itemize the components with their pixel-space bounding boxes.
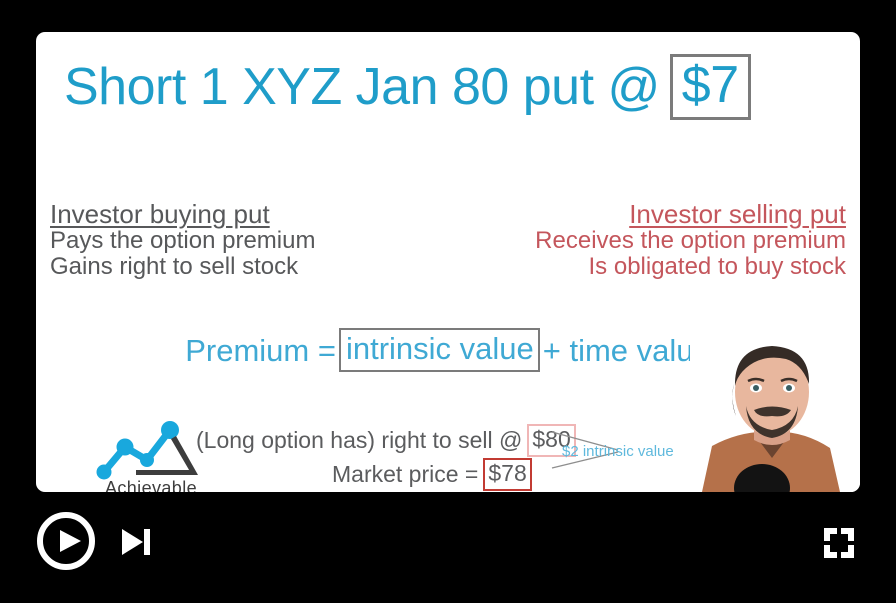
investor-buying-line-1: Pays the option premium	[50, 228, 450, 254]
formula-suffix: + time value	[543, 335, 711, 366]
investor-buying-line-2: Gains right to sell stock	[50, 254, 450, 280]
right-to-sell-label: (Long option has) right to sell @	[196, 429, 522, 452]
right-to-sell-row: (Long option has) right to sell @ $80	[196, 424, 576, 457]
title-text: Short 1 XYZ Jan 80 put @	[64, 61, 660, 113]
achievable-wordmark: Achievable	[86, 478, 216, 492]
formula-intrinsic-box: intrinsic value	[339, 328, 540, 372]
investor-selling-heading: Investor selling put	[629, 200, 846, 228]
skip-next-icon[interactable]	[114, 522, 154, 562]
presenter-figure	[690, 340, 860, 492]
investor-selling-line-2: Is obligated to buy stock	[446, 254, 846, 280]
video-player: Short 1 XYZ Jan 80 put @ $7 Investor buy…	[0, 0, 896, 603]
presenter-video-overlay	[690, 340, 860, 492]
play-icon[interactable]	[37, 512, 95, 570]
formula-prefix: Premium =	[185, 335, 336, 366]
market-price-label: Market price =	[332, 463, 478, 486]
market-price-box: $78	[483, 458, 531, 491]
title-price-box: $7	[670, 54, 751, 120]
investor-buying-heading: Investor buying put	[50, 200, 270, 228]
market-price-row: Market price = $78	[332, 458, 532, 491]
intrinsic-value-annotation: $2 intrinsic value	[562, 443, 674, 460]
player-controls	[0, 500, 896, 590]
fullscreen-icon[interactable]	[818, 522, 860, 564]
investor-selling-line-1: Receives the option premium	[446, 228, 846, 254]
page-title: Short 1 XYZ Jan 80 put @ $7	[64, 48, 844, 126]
investor-buying-block: Investor buying put Pays the option prem…	[50, 200, 450, 280]
slide-canvas: Short 1 XYZ Jan 80 put @ $7 Investor buy…	[36, 32, 860, 492]
achievable-logo-mark	[94, 418, 206, 480]
investor-selling-block: Investor selling put Receives the option…	[446, 200, 846, 280]
